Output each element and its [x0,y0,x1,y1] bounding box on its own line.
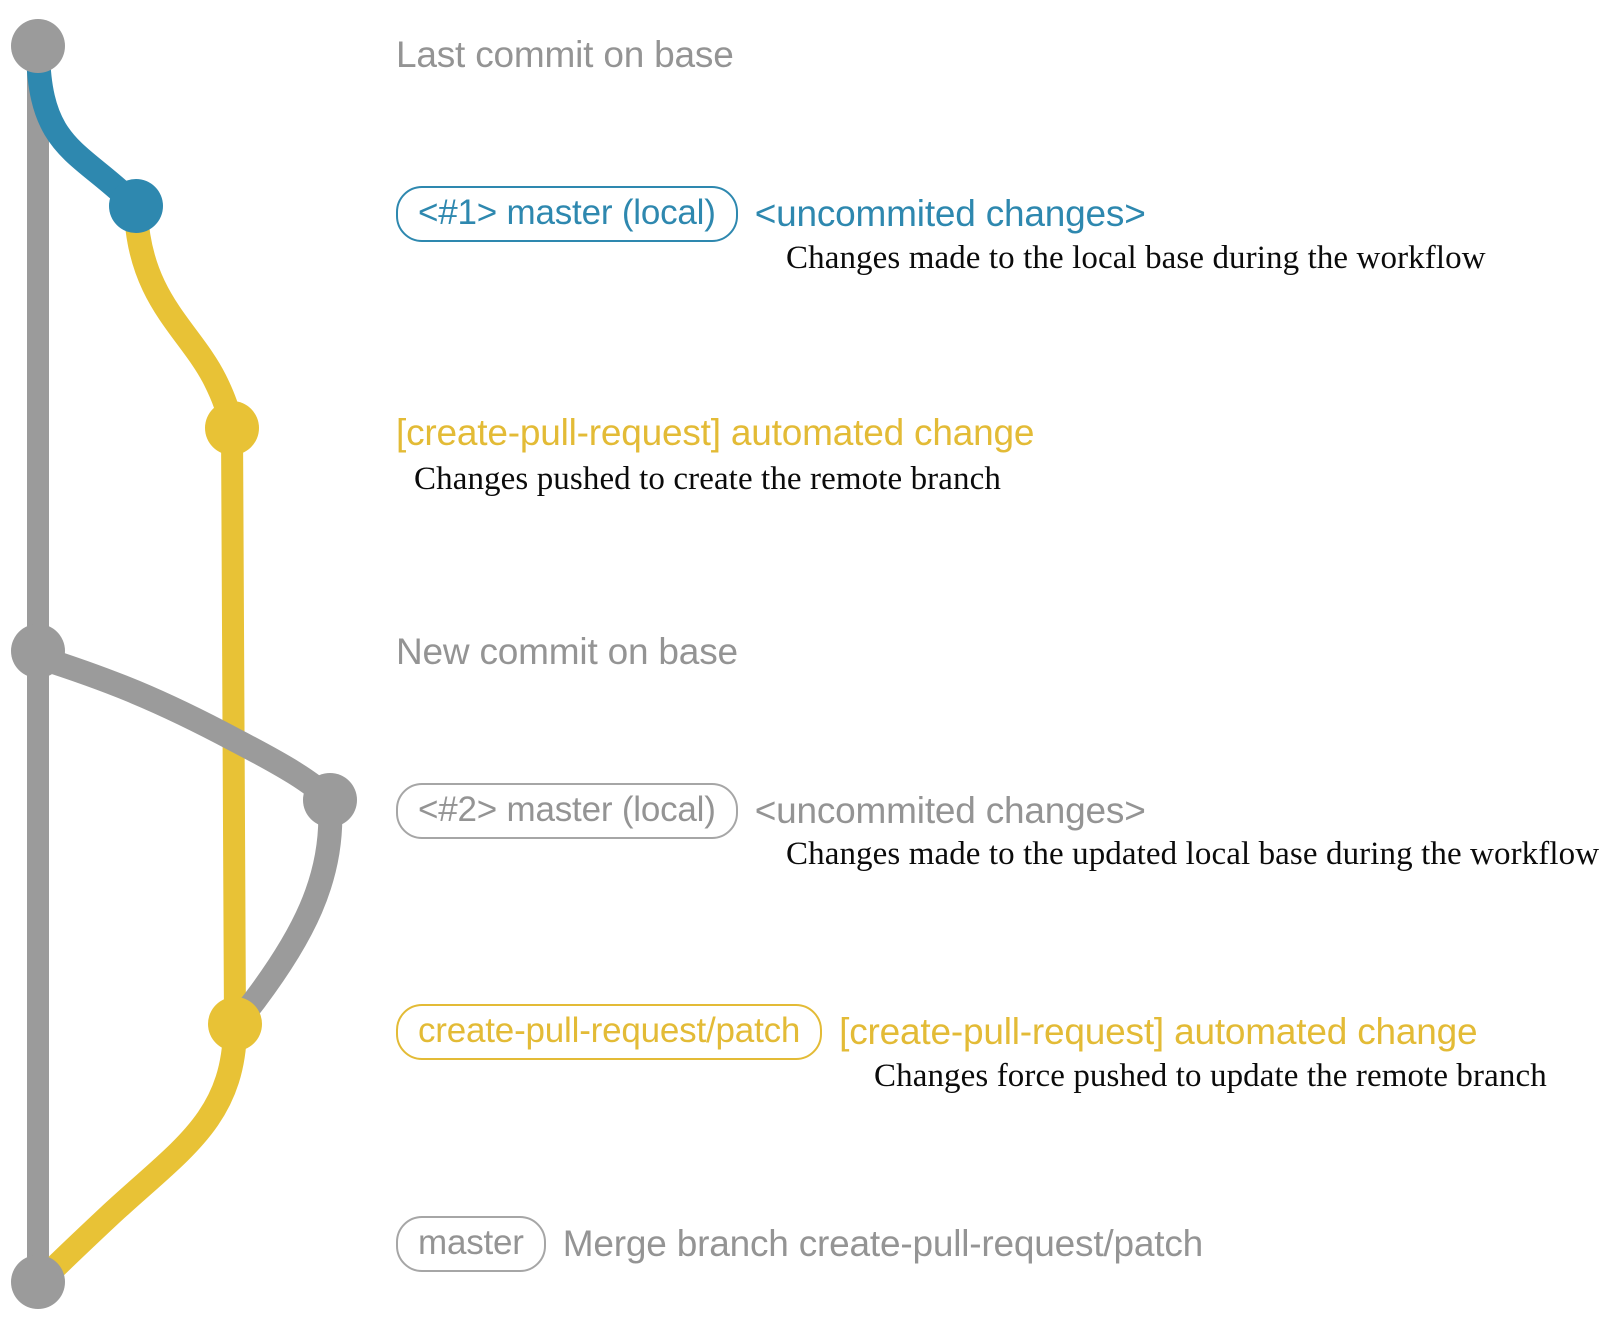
label-new-commit-on-base: New commit on base [396,631,738,673]
ref-badge-master[interactable]: master [396,1216,546,1272]
description-patch-2: Changes force pushed to update the remot… [874,1058,1547,1095]
commit-node-patch-2[interactable] [208,997,262,1051]
local-branch-2-line [38,657,330,800]
commit-node-base-head[interactable] [11,19,65,73]
row-patch-commit-2: create-pull-request/patch [create-pull-r… [396,1004,1477,1060]
commit-node-local-2[interactable] [303,773,357,827]
commit-subject-patch-2: [create-pull-request] automated change [839,1011,1477,1053]
description-patch-1: Changes pushed to create the remote bran… [414,461,1001,498]
commit-subject-merge: Merge branch create-pull-request/patch [563,1223,1203,1265]
ref-badge-create-pull-request-patch[interactable]: create-pull-request/patch [396,1004,822,1060]
description-local-2: Changes made to the updated local base d… [786,836,1599,873]
commit-subject-local-2: <uncommited changes> [755,790,1146,832]
ref-badge-master-local-1[interactable]: <#1> master (local) [396,186,738,242]
commit-subject-local-1: <uncommited changes> [755,193,1146,235]
commit-subject-patch-1: [create-pull-request] automated change [396,412,1034,454]
ref-badge-master-local-2[interactable]: <#2> master (local) [396,783,738,839]
git-graph-diagram: Last commit on base <#1> master (local) … [0,0,1618,1344]
row-local-commit-2: <#2> master (local) <uncommited changes> [396,783,1146,839]
commit-node-merge[interactable] [11,1255,65,1309]
label-last-commit-on-base: Last commit on base [396,34,734,76]
local-branch-1-line [38,52,136,206]
patch-branch-1-line [136,212,232,428]
commit-node-base-new[interactable] [11,624,65,678]
row-merge-commit: master Merge branch create-pull-request/… [396,1216,1203,1272]
row-local-commit-1: <#1> master (local) <uncommited changes> [396,186,1146,242]
local-2-to-patch-2-line [235,806,330,1024]
commit-node-local-1[interactable] [109,179,163,233]
commit-node-patch-1[interactable] [205,401,259,455]
description-local-1: Changes made to the local base during th… [786,240,1486,277]
patch-merge-line [40,1030,235,1282]
